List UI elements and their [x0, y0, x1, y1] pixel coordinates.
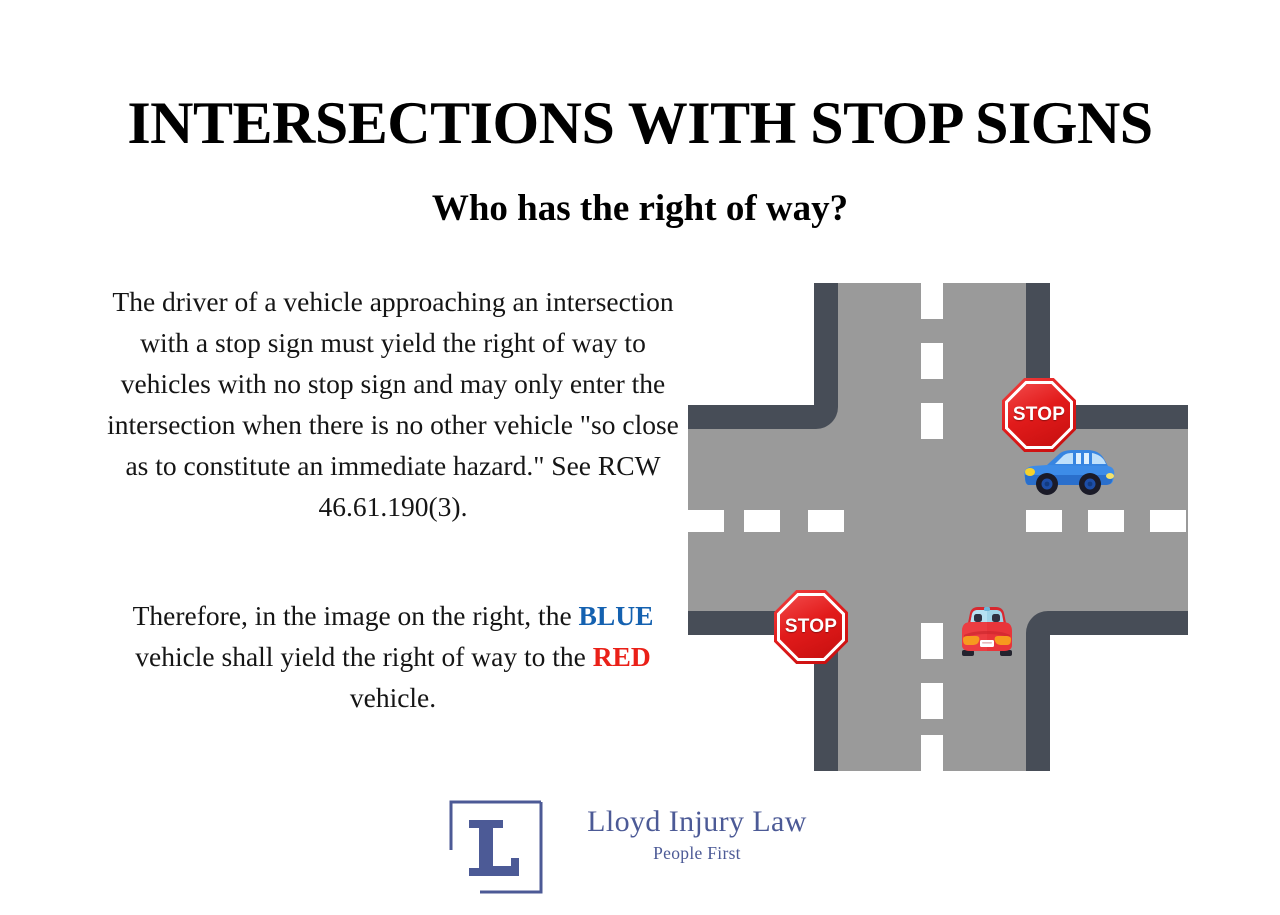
conclusion-lead: Therefore, in the image on the right, th…	[133, 600, 579, 631]
lane-dash-vertical	[921, 623, 943, 659]
curb-horizontal-top-left	[688, 405, 838, 429]
page-subtitle: Who has the right of way?	[0, 189, 1280, 230]
red-keyword: RED	[593, 641, 651, 672]
paragraph-statute: The driver of a vehicle approaching an i…	[96, 281, 690, 527]
red-car-icon	[954, 605, 1020, 660]
lane-dash-vertical	[921, 683, 943, 719]
stop-sign-label: STOP	[1002, 378, 1076, 452]
stop-sign-southwest: STOP	[774, 590, 848, 664]
lane-dash-horizontal	[688, 510, 724, 532]
lane-dash-horizontal	[808, 510, 844, 532]
lane-dash-horizontal	[744, 510, 780, 532]
lane-dash-horizontal	[1026, 510, 1062, 532]
curb-horizontal-bottom-right	[1026, 611, 1188, 635]
brand-logo: Lloyd Injury Law People First	[447, 798, 839, 896]
page-title: INTERSECTIONS WITH STOP SIGNS	[0, 92, 1280, 154]
blue-vehicle	[1017, 445, 1117, 497]
poster-canvas: INTERSECTIONS WITH STOP SIGNS Who has th…	[0, 0, 1280, 915]
intersection-diagram: STOP STOP	[688, 283, 1188, 771]
logo-frame-and-letter-icon	[447, 798, 545, 896]
logo-tagline: People First	[555, 842, 839, 864]
lane-dash-vertical	[921, 283, 943, 319]
curb-vertical-left-upper	[814, 283, 838, 405]
conclusion-middle: vehicle shall yield the right of way to …	[135, 641, 592, 672]
lane-dash-vertical	[921, 735, 943, 771]
logo-name: Lloyd Injury Law	[555, 804, 839, 840]
logo-mark-icon	[447, 798, 545, 896]
lane-dash-horizontal	[1088, 510, 1124, 532]
blue-keyword: BLUE	[579, 600, 654, 631]
conclusion-tail: vehicle.	[350, 682, 436, 713]
body-copy-column: The driver of a vehicle approaching an i…	[96, 281, 690, 718]
lane-dash-horizontal	[1150, 510, 1186, 532]
paragraph-conclusion: Therefore, in the image on the right, th…	[96, 595, 690, 718]
lane-dash-vertical	[921, 343, 943, 379]
stop-sign-label: STOP	[774, 590, 848, 664]
stop-sign-northeast: STOP	[1002, 378, 1076, 452]
blue-car-icon	[1017, 445, 1117, 497]
curb-vertical-right-lower	[1026, 635, 1050, 771]
lane-dash-vertical	[921, 403, 943, 439]
logo-wordmark: Lloyd Injury Law People First	[555, 804, 839, 864]
red-vehicle	[954, 605, 1020, 660]
